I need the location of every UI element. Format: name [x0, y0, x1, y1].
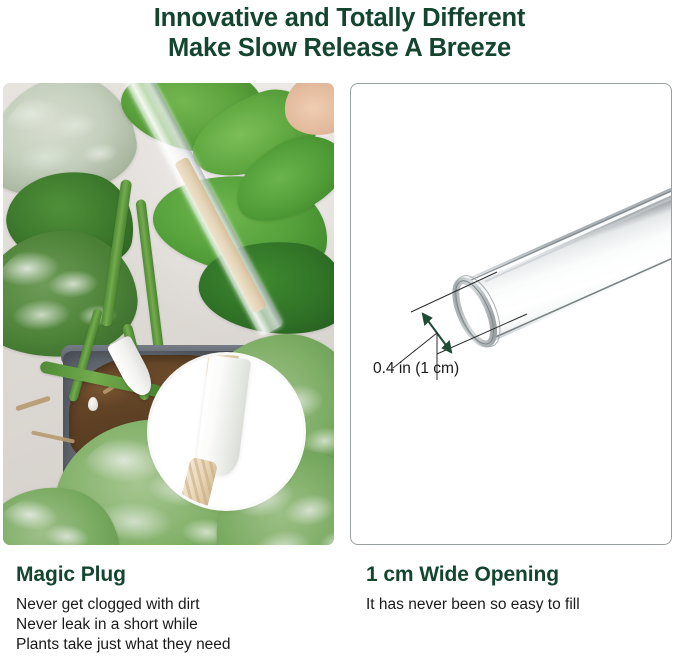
right-caption-lines: It has never been so easy to fill: [366, 595, 666, 615]
headline-line-2: Make Slow Release A Breeze: [0, 33, 679, 63]
left-caption-title: Magic Plug: [16, 562, 326, 588]
product-in-use-photo: [3, 83, 334, 545]
right-caption-block: 1 cm Wide Opening It has never been so e…: [366, 562, 666, 615]
tube-diagram-svg: [351, 84, 672, 545]
wick-bottom-closeup: [178, 456, 219, 508]
water-drip: [88, 397, 98, 411]
page-title: Innovative and Totally Different Make Sl…: [0, 3, 679, 63]
left-caption-lines: Never get clogged with dirt Never leak i…: [16, 595, 326, 655]
tube-opening-diagram: 0.4 in (1 cm): [350, 83, 672, 545]
dimension-label: 0.4 in (1 cm): [373, 360, 459, 378]
left-caption-line: Plants take just what they need: [16, 635, 326, 655]
headline-line-1: Innovative and Totally Different: [154, 4, 525, 32]
left-caption-line: Never get clogged with dirt: [16, 595, 326, 615]
left-caption-block: Magic Plug Never get clogged with dirt N…: [16, 562, 326, 655]
left-caption-line: Never leak in a short while: [16, 615, 326, 635]
right-caption-line: It has never been so easy to fill: [366, 595, 666, 615]
photo-scene: [3, 83, 334, 545]
magic-plug-closeup: [150, 355, 303, 508]
right-caption-title: 1 cm Wide Opening: [366, 562, 666, 588]
product-feature-graphic: Innovative and Totally Different Make Sl…: [0, 0, 679, 661]
